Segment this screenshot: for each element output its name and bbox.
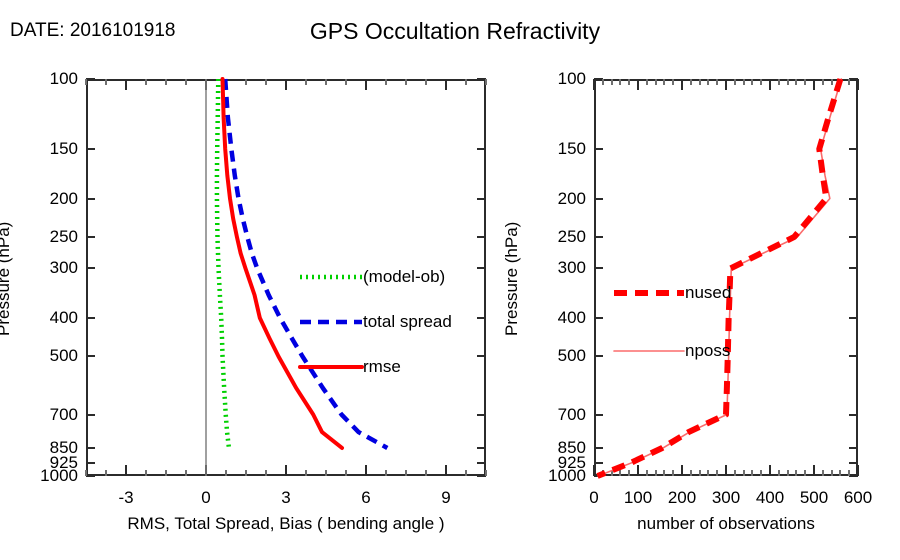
legend-label-nused: nused [685, 283, 731, 303]
right-ytick [594, 447, 603, 449]
left-xtick-minor [305, 79, 307, 85]
right-plot-frame [594, 79, 858, 476]
left-ytick [86, 475, 95, 477]
right-xtick-minor [804, 79, 806, 85]
left-xtick-minor [345, 79, 347, 85]
right-xtick-minor [716, 470, 718, 476]
left-ytick-label: 200 [22, 189, 78, 209]
right-xtick-minor [663, 470, 665, 476]
right-xtick-minor [778, 470, 780, 476]
left-xtick-major [125, 465, 127, 476]
left-xtick-minor [165, 79, 167, 85]
right-xtick-major [593, 465, 595, 476]
left-ytick-label: 500 [22, 346, 78, 366]
left-xtick-minor [245, 79, 247, 85]
left-xtick-minor [405, 79, 407, 85]
left-xtick-major [285, 79, 287, 90]
left-xtick-minor [85, 470, 87, 476]
right-ytick [594, 148, 603, 150]
left-xtick-minor [385, 79, 387, 85]
right-ytick-label: 700 [530, 405, 586, 425]
left-xtick-minor [325, 79, 327, 85]
right-xtick-minor [663, 79, 665, 85]
right-xtick-minor [672, 79, 674, 85]
right-xtick-major [593, 79, 595, 90]
right-xtick-minor [611, 79, 613, 85]
left-ytick-label: 1000 [22, 466, 78, 486]
right-xtick-minor [699, 470, 701, 476]
left-xtick-minor [485, 79, 487, 85]
right-xtick-minor [831, 470, 833, 476]
right-xtick-minor [804, 470, 806, 476]
right-xtick-major [857, 79, 859, 90]
left-xtick-minor [465, 79, 467, 85]
right-xtick-label: 300 [712, 488, 740, 508]
right-ytick [849, 236, 858, 238]
left-ytick-label: 400 [22, 308, 78, 328]
right-xtick-label: 500 [800, 488, 828, 508]
left-xtick-minor [185, 470, 187, 476]
left-xtick-major [365, 79, 367, 90]
right-xtick-minor [848, 79, 850, 85]
left-ytick [86, 236, 95, 238]
right-xtick-minor [690, 79, 692, 85]
left-ytick [86, 414, 95, 416]
right-xtick-minor [611, 470, 613, 476]
left-xtick-minor [425, 79, 427, 85]
left-ytick [477, 355, 486, 357]
left-xtick-label: 9 [441, 488, 450, 508]
left-ytick [86, 148, 95, 150]
left-xtick-minor [225, 470, 227, 476]
right-ytick [849, 198, 858, 200]
right-yaxis-title: Pressure (hPa) [502, 221, 522, 335]
right-xtick-minor [655, 470, 657, 476]
right-ytick [849, 414, 858, 416]
left-xtick-minor [345, 470, 347, 476]
left-xtick-major [365, 465, 367, 476]
left-xtick-minor [145, 470, 147, 476]
right-ytick [849, 462, 858, 464]
right-ytick [849, 317, 858, 319]
right-xtick-minor [822, 79, 824, 85]
right-xtick-minor [743, 470, 745, 476]
right-ytick [594, 462, 603, 464]
left-xtick-minor [105, 470, 107, 476]
right-xtick-minor [839, 470, 841, 476]
left-ytick [86, 447, 95, 449]
right-ytick [594, 317, 603, 319]
right-xtick-major [813, 465, 815, 476]
left-ytick [477, 236, 486, 238]
left-xtick-minor [145, 79, 147, 85]
left-xtick-major [125, 79, 127, 90]
left-ytick [86, 317, 95, 319]
left-xaxis-title: RMS, Total Spread, Bias ( bending angle … [127, 514, 444, 534]
right-ytick [849, 267, 858, 269]
left-xtick-major [285, 465, 287, 476]
right-xtick-minor [628, 79, 630, 85]
right-xtick-major [725, 79, 727, 90]
right-xtick-minor [822, 470, 824, 476]
right-ytick-label: 250 [530, 227, 586, 247]
left-ytick-label: 250 [22, 227, 78, 247]
left-xtick-major [445, 465, 447, 476]
right-ytick-label: 100 [530, 69, 586, 89]
right-xtick-minor [795, 470, 797, 476]
right-ytick [594, 355, 603, 357]
left-xtick-minor [425, 470, 427, 476]
right-xtick-major [813, 79, 815, 90]
right-ytick [849, 148, 858, 150]
left-xtick-minor [485, 470, 487, 476]
right-xtick-label: 400 [756, 488, 784, 508]
right-xtick-minor [778, 79, 780, 85]
left-ytick [86, 78, 95, 80]
left-xtick-minor [105, 79, 107, 85]
right-xtick-minor [655, 79, 657, 85]
left-ytick [86, 462, 95, 464]
right-xtick-minor [795, 79, 797, 85]
left-xtick-major [205, 79, 207, 90]
right-ytick [594, 236, 603, 238]
right-xtick-minor [848, 470, 850, 476]
right-xtick-major [637, 79, 639, 90]
legend-label-nposs: nposs [685, 341, 730, 361]
left-ytick [86, 267, 95, 269]
left-ytick-label: 100 [22, 69, 78, 89]
right-xtick-minor [707, 470, 709, 476]
page-title: GPS Occultation Refractivity [0, 18, 900, 45]
page-title-text: GPS Occultation Refractivity [310, 18, 600, 45]
left-xtick-label: 3 [281, 488, 290, 508]
right-xtick-minor [760, 79, 762, 85]
left-xtick-minor [225, 79, 227, 85]
right-ytick-label: 400 [530, 308, 586, 328]
right-ytick-label: 150 [530, 139, 586, 159]
left-xtick-label: 0 [201, 488, 210, 508]
right-xtick-minor [787, 79, 789, 85]
right-ytick-label: 1000 [530, 466, 586, 486]
left-ytick [477, 317, 486, 319]
legend-label-total-spread: total spread [363, 312, 452, 332]
left-xtick-minor [185, 79, 187, 85]
right-xtick-major [725, 465, 727, 476]
right-xtick-minor [602, 470, 604, 476]
right-xtick-minor [751, 79, 753, 85]
right-xtick-minor [628, 470, 630, 476]
left-xtick-minor [265, 79, 267, 85]
left-ytick [477, 447, 486, 449]
left-ytick-label: 700 [22, 405, 78, 425]
right-xtick-minor [787, 470, 789, 476]
left-ytick-label: 300 [22, 258, 78, 278]
right-xtick-minor [707, 79, 709, 85]
right-ytick-label: 300 [530, 258, 586, 278]
left-ytick [477, 198, 486, 200]
legend-label-rmse: rmse [363, 357, 401, 377]
left-xtick-label: -3 [118, 488, 133, 508]
right-xtick-minor [734, 79, 736, 85]
right-xtick-minor [690, 470, 692, 476]
left-yaxis-title: Pressure (hPa) [0, 221, 14, 335]
right-xtick-major [681, 79, 683, 90]
right-ytick [594, 414, 603, 416]
right-xtick-major [681, 465, 683, 476]
right-xtick-label: 100 [624, 488, 652, 508]
left-ytick-label: 150 [22, 139, 78, 159]
right-ytick-label: 500 [530, 346, 586, 366]
right-xtick-major [857, 465, 859, 476]
right-xtick-label: 0 [589, 488, 598, 508]
left-ytick [477, 267, 486, 269]
left-xtick-minor [465, 470, 467, 476]
right-xtick-minor [699, 79, 701, 85]
right-xtick-minor [619, 79, 621, 85]
left-xtick-label: 6 [361, 488, 370, 508]
right-xtick-label: 600 [844, 488, 872, 508]
right-ytick [849, 447, 858, 449]
right-xtick-major [769, 465, 771, 476]
right-ytick [849, 355, 858, 357]
left-xtick-minor [305, 470, 307, 476]
left-xtick-minor [245, 470, 247, 476]
left-ytick [477, 148, 486, 150]
right-xtick-minor [602, 79, 604, 85]
right-xtick-minor [760, 470, 762, 476]
left-ytick [477, 462, 486, 464]
left-xtick-minor [325, 470, 327, 476]
left-xtick-minor [85, 79, 87, 85]
right-xtick-minor [839, 79, 841, 85]
right-xtick-minor [743, 79, 745, 85]
left-xtick-minor [165, 470, 167, 476]
right-xtick-minor [716, 79, 718, 85]
right-xtick-minor [619, 470, 621, 476]
left-xtick-minor [405, 470, 407, 476]
right-ytick [594, 198, 603, 200]
left-xtick-minor [385, 470, 387, 476]
right-xtick-minor [831, 79, 833, 85]
right-xtick-minor [646, 470, 648, 476]
right-xtick-label: 200 [668, 488, 696, 508]
left-ytick [86, 355, 95, 357]
left-ytick [86, 198, 95, 200]
right-ytick-label: 200 [530, 189, 586, 209]
left-ytick [477, 414, 486, 416]
left-xtick-major [445, 79, 447, 90]
right-xtick-minor [646, 79, 648, 85]
right-xtick-minor [734, 470, 736, 476]
right-xtick-minor [672, 470, 674, 476]
right-xaxis-title: number of observations [637, 514, 815, 534]
right-xtick-minor [751, 470, 753, 476]
right-xtick-major [637, 465, 639, 476]
right-xtick-major [769, 79, 771, 90]
legend-label--model-ob-: (model-ob) [363, 267, 445, 287]
left-xtick-minor [265, 470, 267, 476]
left-xtick-major [205, 465, 207, 476]
right-ytick [594, 267, 603, 269]
